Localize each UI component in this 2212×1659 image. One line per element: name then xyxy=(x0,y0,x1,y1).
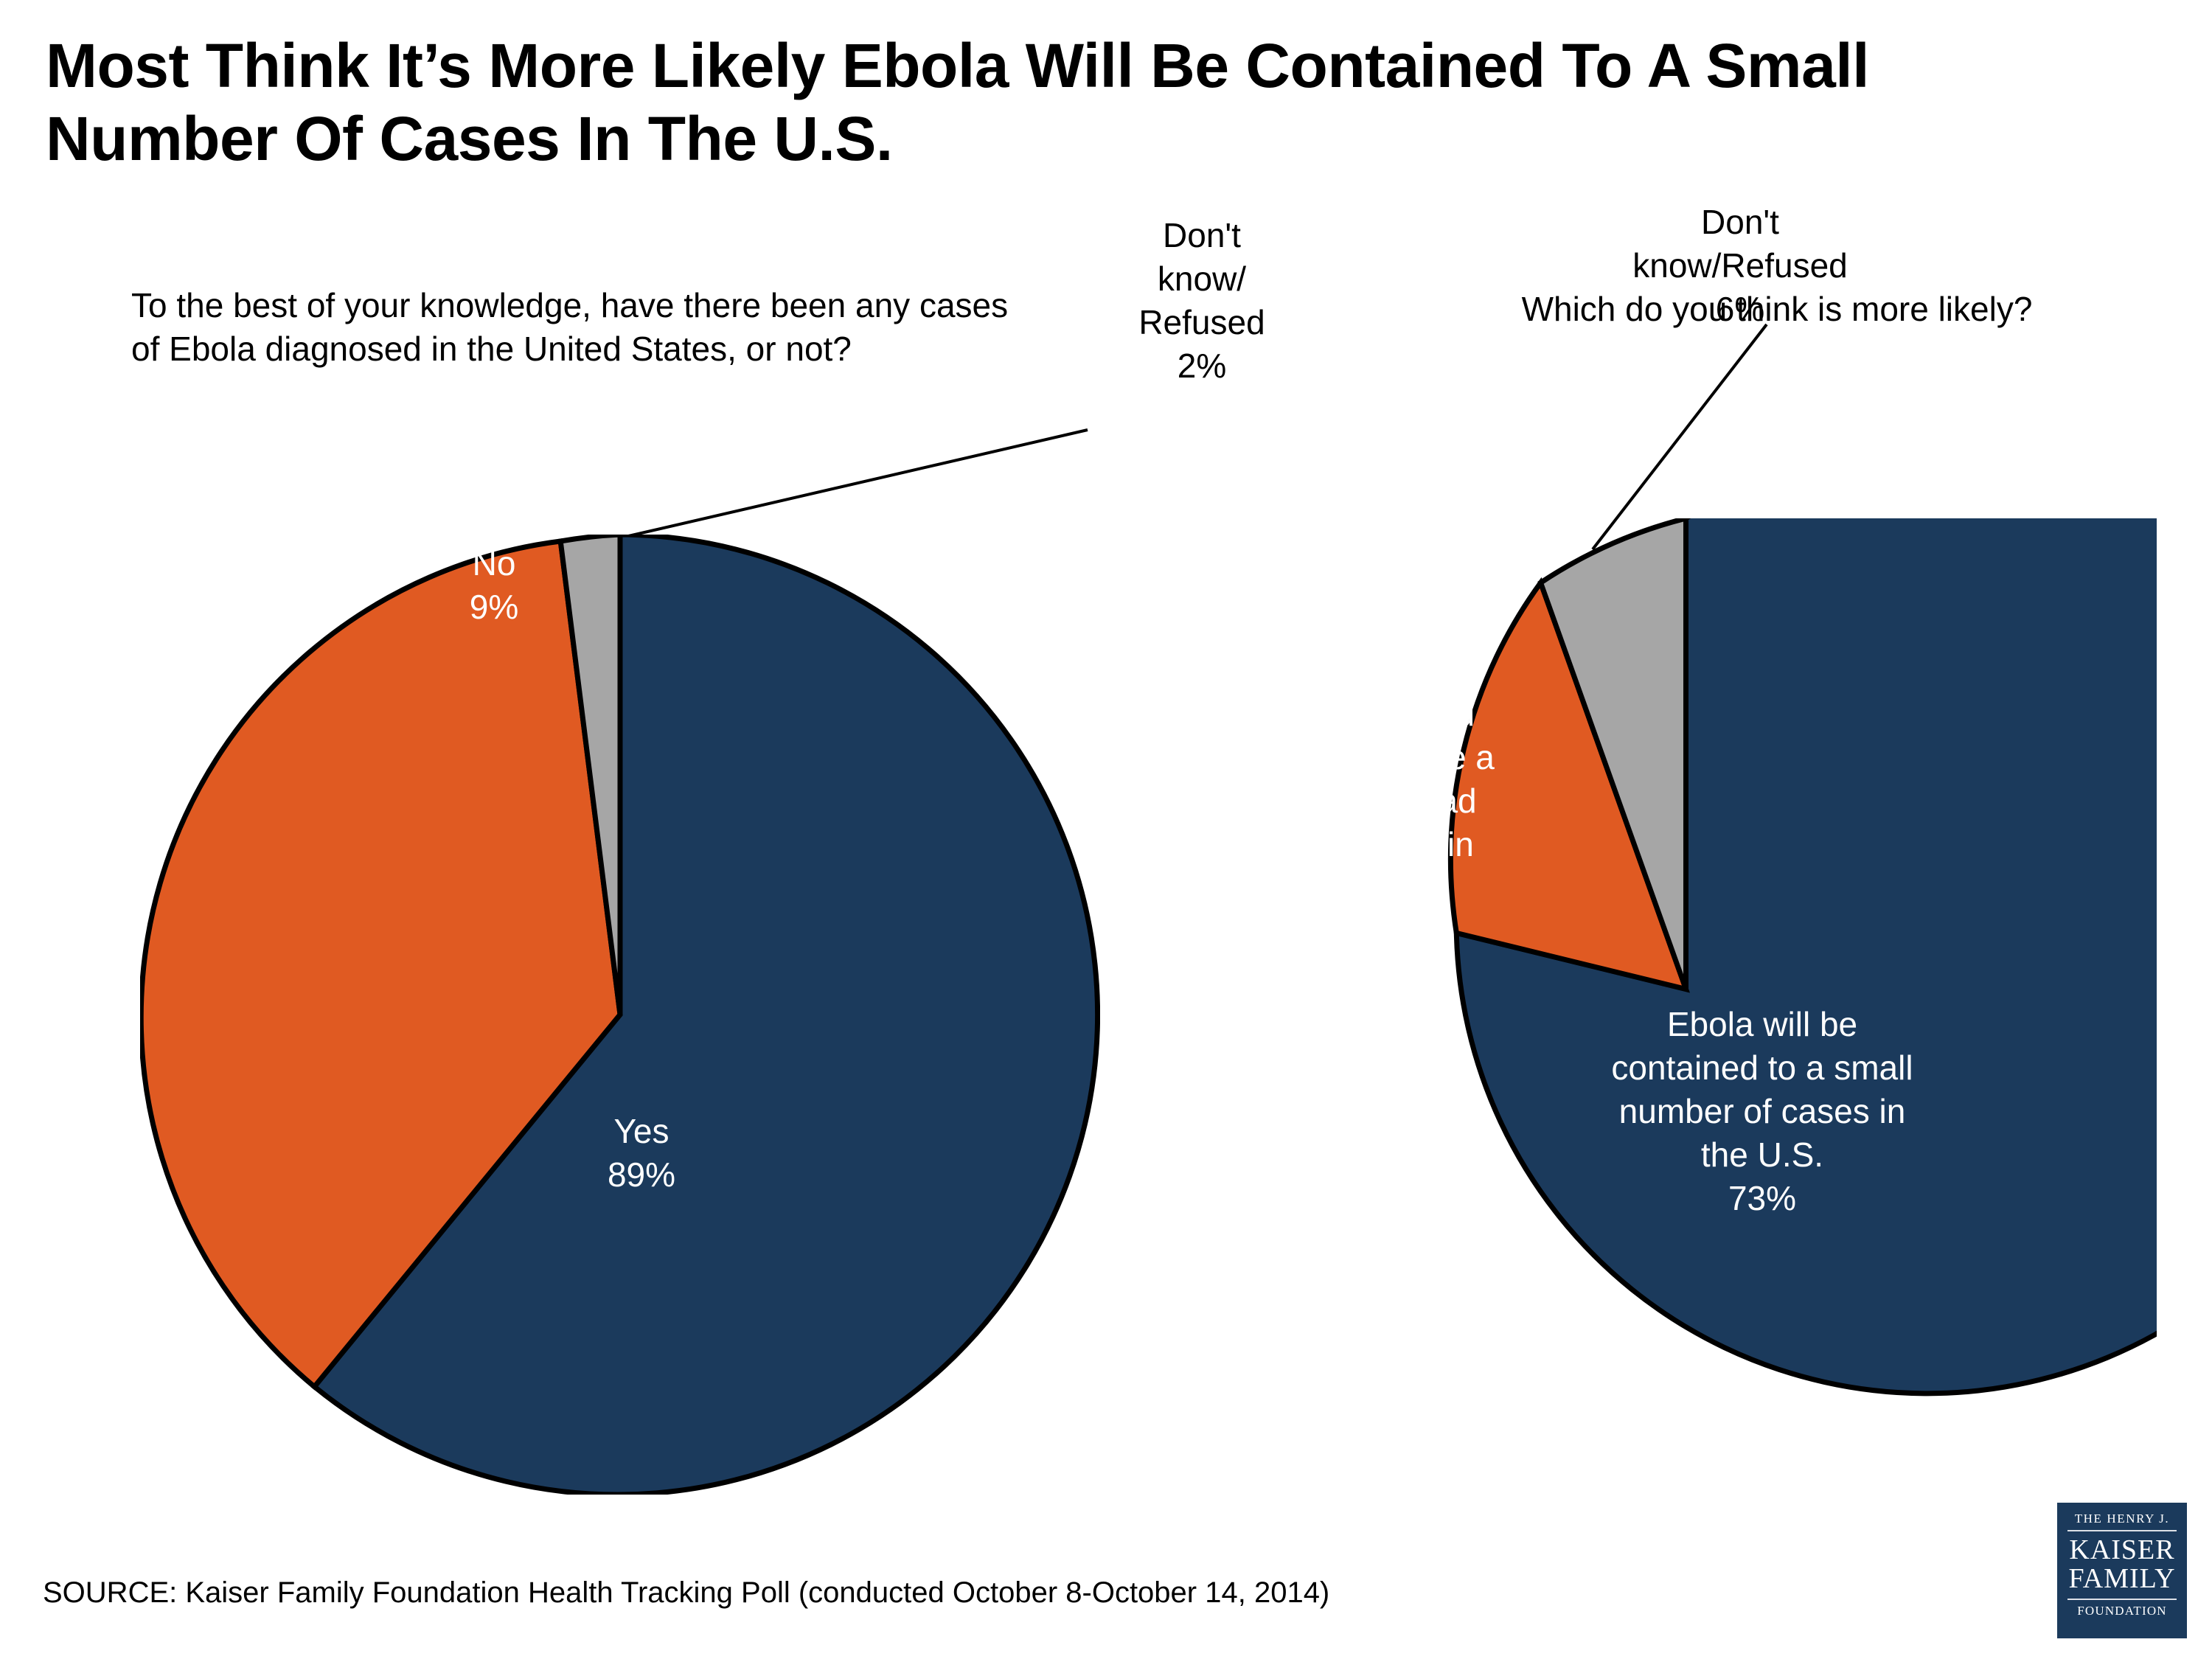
logo-divider-bottom xyxy=(2067,1599,2177,1600)
logo-line-the-henry-j: THE HENRY J. xyxy=(2065,1512,2180,1525)
kaiser-family-foundation-logo: THE HENRY J. KAISER FAMILY FOUNDATION xyxy=(2057,1503,2187,1638)
left-chart-panel: To the best of your knowledge, have ther… xyxy=(0,0,1150,1659)
right-pie-label-contained: Ebola will be contained to a small numbe… xyxy=(1607,1003,1917,1220)
right-pie-label-dont-know: Don't know/Refused 6% xyxy=(1593,201,1888,331)
logo-divider-top xyxy=(2067,1530,2177,1531)
right-chart-panel: Which do you think is more likely? Ebola… xyxy=(1150,0,2212,1659)
right-pie-label-spread: Ebola will spread and there will be a wi… xyxy=(1279,649,1500,953)
left-pie-label-no: No 9% xyxy=(413,542,575,629)
left-pie-label-yes: Yes 89% xyxy=(560,1110,723,1197)
logo-line-kaiser: KAISER xyxy=(2065,1536,2180,1565)
left-pie-chart xyxy=(140,535,1100,1495)
source-note: SOURCE: Kaiser Family Foundation Health … xyxy=(43,1576,1329,1610)
left-pie-svg xyxy=(140,535,1100,1495)
logo-line-foundation: FOUNDATION xyxy=(2065,1604,2180,1617)
logo-line-family: FAMILY xyxy=(2065,1565,2180,1593)
